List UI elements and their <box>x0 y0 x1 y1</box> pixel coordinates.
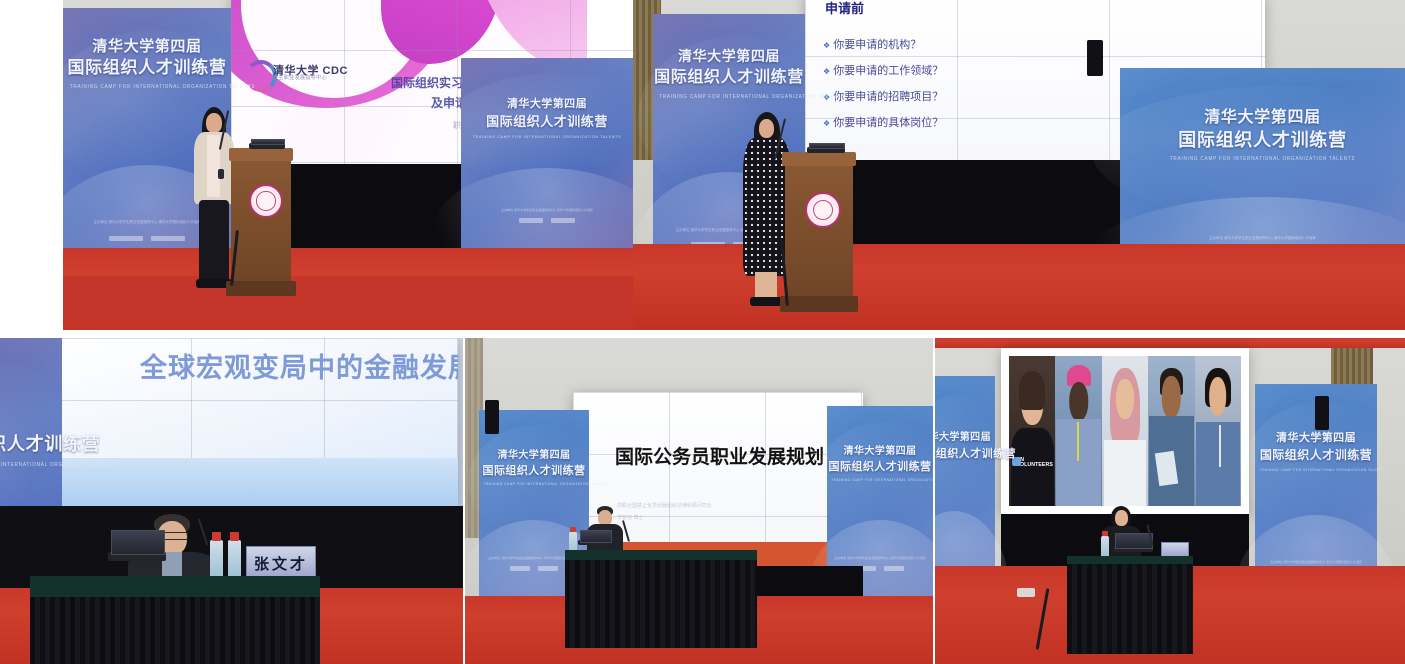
banner8-line2: 国际组织人才训练营 <box>1255 448 1377 463</box>
banner-line2: 国际组织人才训练营 <box>63 58 231 79</box>
podium-laptop <box>249 143 285 149</box>
banner2-line1: 清华大学第四届 <box>653 48 805 65</box>
unv-panel-0: UN VOLUNTEERS <box>1009 356 1055 506</box>
slide2-bullet-0: ❖ 你要申请的机构？ <box>823 36 943 52</box>
bottle-cap <box>1102 531 1107 536</box>
table-cloth-4 <box>565 550 757 560</box>
podium2-base <box>780 296 859 312</box>
slide4-title: 国际公务员职业发展规划 <box>615 442 824 469</box>
water-bottle-1 <box>210 540 223 578</box>
laptop-lid <box>251 139 285 145</box>
unv-panel-1 <box>1055 356 1101 506</box>
slide2-bullet-text-2: 你要申请的招聘项目？ <box>833 91 943 103</box>
presenter-inner-top <box>207 135 220 197</box>
slide4-subtitle-1: 前联合国禁止化学武器组织法律科顾问司长 <box>617 502 712 509</box>
banner-line1: 清华大学第四届 <box>63 38 231 56</box>
bullet-marker-icon: ❖ <box>823 67 830 76</box>
unv-face-4 <box>1209 377 1227 416</box>
banner3-line1: 清华大学第四届 <box>1120 108 1405 128</box>
presenter2-legs <box>755 272 777 300</box>
speaker-table-4 <box>565 550 757 648</box>
podium-laptop-2 <box>807 147 845 153</box>
banner8-footer: 主办单位 清华大学学生职业发展指导中心 清华大学国际组织人才培养 <box>1255 560 1377 564</box>
bullet-marker-icon: ❖ <box>823 41 830 50</box>
unv-lanyard-1 <box>1077 422 1079 461</box>
slide2-bullet-text-0: 你要申请的机构？ <box>833 39 921 51</box>
presenter5-laptop <box>1113 546 1153 552</box>
speaker-laptop-lid <box>111 530 164 555</box>
banner5-line1: 清华大学第四届 <box>479 450 589 462</box>
banner7-line2: 国际组织人才训练营 <box>935 448 995 461</box>
unv-panel-3 <box>1148 356 1194 506</box>
banner3-footer: 主办单位 清华大学学生职业发展指导中心 清华大学国际组织人才培养 <box>1120 236 1405 241</box>
banner6-footer: 主办单位 清华大学学生职业发展指导中心 清华大学国际组织人才培养 <box>827 556 933 560</box>
banner5-subtitle: TRAINING CAMP FOR INTERNATIONAL ORGANIZA… <box>483 482 584 486</box>
presenter2-head <box>759 119 774 138</box>
banner6-line1: 清华大学第四届 <box>827 446 933 458</box>
speaker-box-5 <box>1315 396 1329 430</box>
table-skirt-4 <box>565 560 757 648</box>
tsinghua-emblem-2 <box>805 192 841 228</box>
projection-screen-5: UN VOLUNTEERS <box>1001 348 1249 514</box>
unv-logo-label: UN VOLUNTEERS <box>1016 457 1053 468</box>
banner6-subtitle: TRAINING CAMP FOR INTERNATIONAL ORGANIZA… <box>831 478 929 482</box>
unv-face-3 <box>1162 376 1181 418</box>
slide2-bullet-text-1: 你要申请的工作领域？ <box>833 65 943 77</box>
presenter5-laptop-lid <box>1115 533 1152 549</box>
unv-lanyard-4 <box>1219 425 1221 467</box>
podium-2 <box>785 152 853 312</box>
un-volunteers-slide: UN VOLUNTEERS <box>1009 356 1241 506</box>
slide2-bullets: ❖ 你要申请的机构？ ❖ 你要申请的工作领域？ ❖ 你要申请的招聘项目？ ❖ 你… <box>823 36 943 100</box>
red-carpet-front <box>63 276 633 330</box>
photo-collage: 清华大学 CDC 学生职业发展指导中心 国际组织实习任职的校内资源 及申请注意事… <box>0 0 1405 664</box>
slide3-title: 全球宏观变局中的金融发展 <box>140 346 458 385</box>
banner2-line2: 国际组织人才训练营 <box>653 68 805 88</box>
red-carpet-top-strip <box>935 338 1405 348</box>
table-cloth-5 <box>1067 556 1193 564</box>
unv-robe-2 <box>1104 440 1147 506</box>
bottle-cap <box>230 532 238 541</box>
unv-vest-1 <box>1056 419 1101 506</box>
unv-hair-0 <box>1019 371 1045 410</box>
unv-panel-4 <box>1195 356 1241 506</box>
slide2-heading: 申请前 <box>825 0 864 17</box>
unv-papers-3 <box>1154 451 1177 486</box>
desk-nameplate: 张文才 <box>246 546 316 580</box>
presenter-trousers <box>199 200 229 282</box>
podium2-top <box>782 152 855 166</box>
floor-power-box <box>1017 588 1035 597</box>
presenter-head <box>206 113 222 133</box>
banner4-line2: 国际组织人才训练营 <box>0 434 62 456</box>
banner4-subtitle: TRAINING CAMP FOR INTERNATIONAL ORGANIZA… <box>0 462 57 468</box>
photo-bottom-center: 国际公务员职业发展规划 前联合国禁止化学武器组织法律科顾问司长 李智信 博士 清… <box>465 338 933 664</box>
photo-top-right: 申请前 ❖ 你要申请的机构？ ❖ 你要申请的工作领域？ ❖ 你要申请的招聘项目？… <box>633 0 1405 330</box>
presenter-clicker <box>218 169 224 179</box>
speaker-box <box>1087 40 1103 76</box>
water-bottle-2 <box>228 540 241 578</box>
banner6-line2: 国际组织人才训练营 <box>827 461 933 474</box>
unv-panel-2 <box>1102 356 1148 506</box>
cdc-logo-subtext: 学生职业发展指导中心 <box>273 74 327 81</box>
unv-face-1 <box>1069 382 1088 421</box>
speaker-laptop <box>108 552 166 561</box>
banner-right-line2: 国际组织人才训练营 <box>461 114 633 130</box>
un-volunteers-logo-text: UN VOLUNTEERS <box>1016 458 1055 469</box>
banner-right-subtitle: TRAINING CAMP FOR INTERNATIONAL ORGANIZA… <box>468 134 626 139</box>
banner-subtitle: TRAINING CAMP FOR INTERNATIONAL ORGANIZA… <box>70 84 225 90</box>
banner-right-line1: 清华大学第四届 <box>461 98 633 111</box>
photo-top-left: 清华大学 CDC 学生职业发展指导中心 国际组织实习任职的校内资源 及申请注意事… <box>63 0 633 330</box>
banner8-line1: 清华大学第四届 <box>1255 432 1377 445</box>
presenter2-shoes <box>750 297 784 306</box>
banner5-line2: 国际组织人才训练营 <box>479 465 589 478</box>
slide2-bullet-1: ❖ 你要申请的工作领域？ <box>823 62 943 78</box>
photo-bottom-left: 全球宏观变局中的金融发展 国际组织人才训练营 TRAINING CAMP FOR… <box>0 338 463 664</box>
podium-base <box>226 281 296 296</box>
slide2-bullet-3: ❖ 你要申请的具体岗位？ <box>823 114 943 130</box>
podium <box>231 148 291 296</box>
presenter-table-5 <box>1067 556 1193 654</box>
laptop2-lid <box>809 143 844 149</box>
bottle-cap <box>570 527 575 532</box>
speaker-table-front <box>30 584 320 664</box>
banner-right-footer: 主办单位 清华大学学生职业发展指导中心 清华大学国际组织人才培养 <box>461 208 633 212</box>
banner7-line1: 清华大学第四届 <box>935 432 995 444</box>
event-banner-right: 清华大学第四届 国际组织人才训练营 TRAINING CAMP FOR INTE… <box>461 58 633 248</box>
speaker4-laptop <box>578 540 612 545</box>
water-bottle-5 <box>1101 536 1109 558</box>
banner2-subtitle: TRAINING CAMP FOR INTERNATIONAL ORGANIZA… <box>659 94 799 100</box>
table-skirt-front <box>30 597 320 664</box>
presenter5-head <box>1115 510 1128 526</box>
banner-right-logos <box>461 218 633 223</box>
banner3-line2: 国际组织人才训练营 <box>1120 130 1405 152</box>
photo-bottom-right: UN VOLUNTEERS <box>935 338 1405 664</box>
slide2-bullet-text-3: 你要申请的具体岗位？ <box>833 117 943 129</box>
unv-face-2-oval <box>1116 379 1134 420</box>
bottle-cap <box>212 532 220 541</box>
speaker4-laptop-lid <box>580 530 612 543</box>
podium-top <box>229 148 294 161</box>
banner8-subtitle: TRAINING CAMP FOR INTERNATIONAL ORGANIZA… <box>1260 468 1372 472</box>
table-skirt-5 <box>1067 564 1193 654</box>
speaker-box-4 <box>485 400 499 434</box>
tsinghua-emblem <box>249 184 283 218</box>
banner3-subtitle: TRAINING CAMP FOR INTERNATIONAL ORGANIZA… <box>1131 156 1393 162</box>
